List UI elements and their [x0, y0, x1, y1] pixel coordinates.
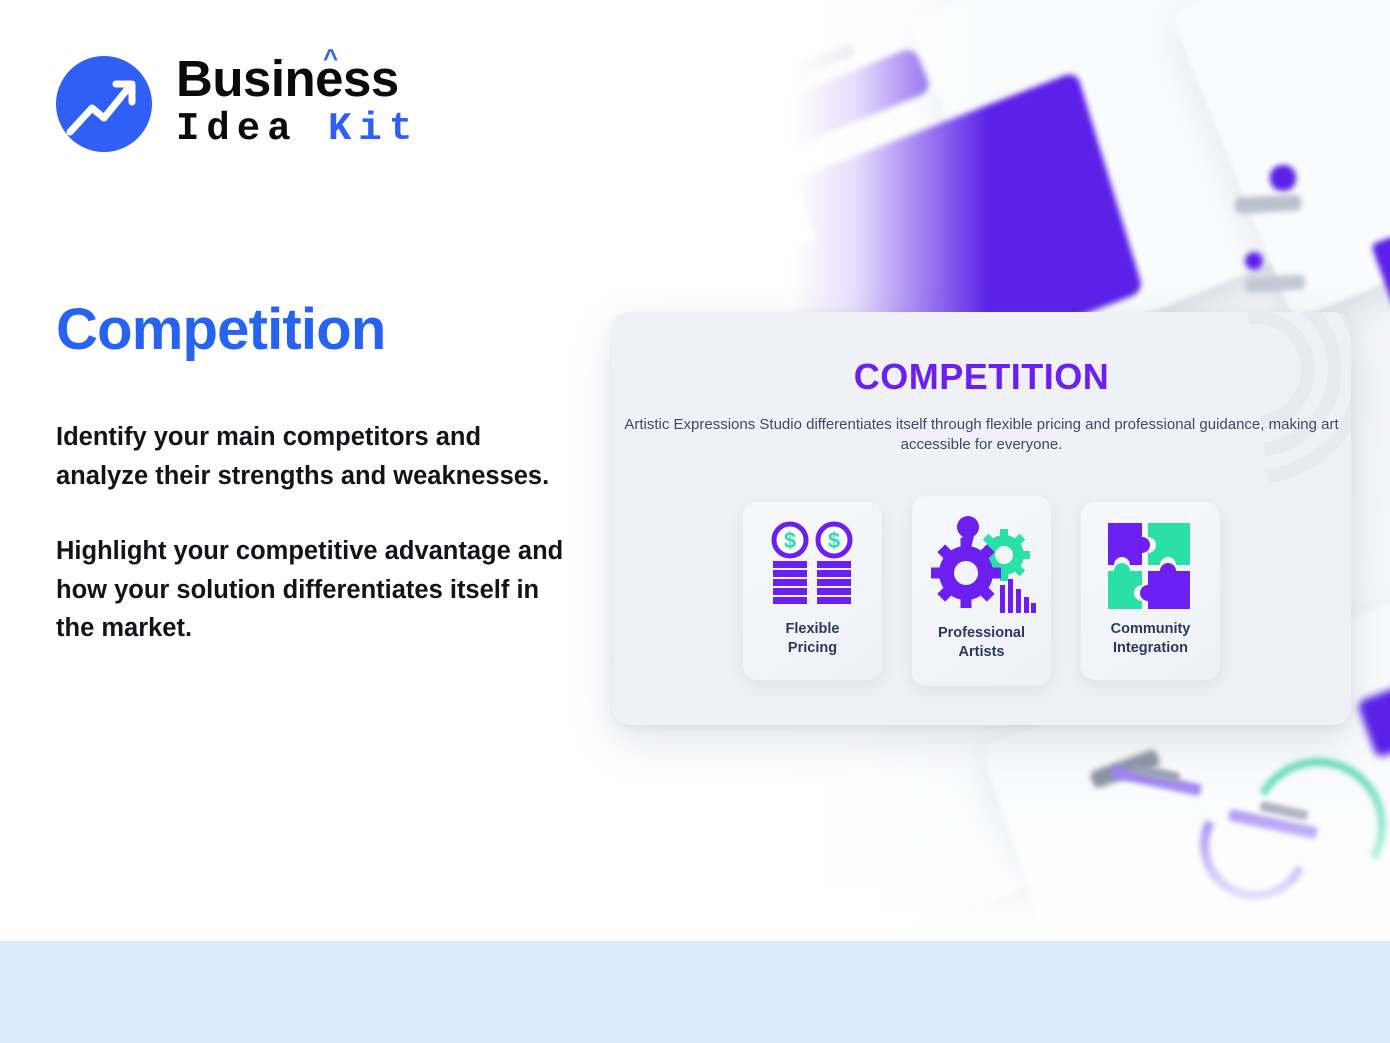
feature-tile-label: Professional Artists: [938, 624, 1025, 662]
card-title: COMPETITION: [612, 356, 1351, 398]
growth-arrow-icon: [56, 56, 152, 152]
gears-lightbulb-chart-icon: [928, 506, 1036, 624]
coins-dollar-icon: $ $: [763, 512, 863, 620]
description-block: Identify your main competitors and analy…: [56, 418, 576, 648]
tile-label-line1: Flexible: [786, 621, 840, 637]
card-subtitle: Artistic Expressions Studio differentiat…: [612, 415, 1351, 456]
tile-label-line2: Artists: [959, 644, 1005, 660]
puzzle-pieces-icon: [1102, 512, 1200, 620]
competition-card: COMPETITION Artistic Expressions Studio …: [612, 312, 1351, 725]
brand-caret-icon: ^: [323, 46, 338, 71]
description-paragraph-1: Identify your main competitors and analy…: [56, 418, 576, 495]
svg-text:$: $: [783, 528, 795, 553]
tile-label-line1: Professional: [938, 625, 1025, 641]
brand-name-text: Business: [176, 50, 399, 107]
svg-text:$: $: [827, 528, 839, 553]
feature-tile-label: Community Integration: [1111, 620, 1191, 658]
tile-label-line2: Pricing: [788, 640, 837, 656]
brand-name-line1: Business ^: [176, 55, 419, 103]
feature-tile-label: Flexible Pricing: [786, 620, 840, 658]
feature-tile-community-integration[interactable]: Community Integration: [1081, 502, 1220, 680]
slide-page: Business ^ Idea Kit Competition Identify…: [0, 0, 1390, 1043]
feature-tiles: $ $: [612, 502, 1351, 686]
tile-label-line1: Community: [1111, 621, 1191, 637]
feature-tile-professional-artists[interactable]: Professional Artists: [912, 496, 1051, 686]
background-bottom-fade: [790, 780, 1390, 941]
bg-purple-dot: [1270, 165, 1296, 191]
brand-idea-text: Idea: [176, 107, 298, 151]
bottom-color-band: [0, 941, 1390, 1043]
brand-name-line2: Idea Kit: [176, 107, 419, 152]
tile-label-line2: Integration: [1113, 640, 1188, 656]
brand-kit-text: Kit: [328, 107, 419, 151]
description-paragraph-2: Highlight your competitive advantage and…: [56, 532, 576, 648]
bg-purple-dot: [1245, 252, 1263, 270]
bg-gray-bar: [1245, 274, 1306, 292]
page-title: Competition: [56, 296, 386, 363]
brand-wordmark: Business ^ Idea Kit: [176, 55, 419, 152]
feature-tile-flexible-pricing[interactable]: $ $: [743, 502, 882, 680]
brand-logo: Business ^ Idea Kit: [56, 55, 419, 152]
